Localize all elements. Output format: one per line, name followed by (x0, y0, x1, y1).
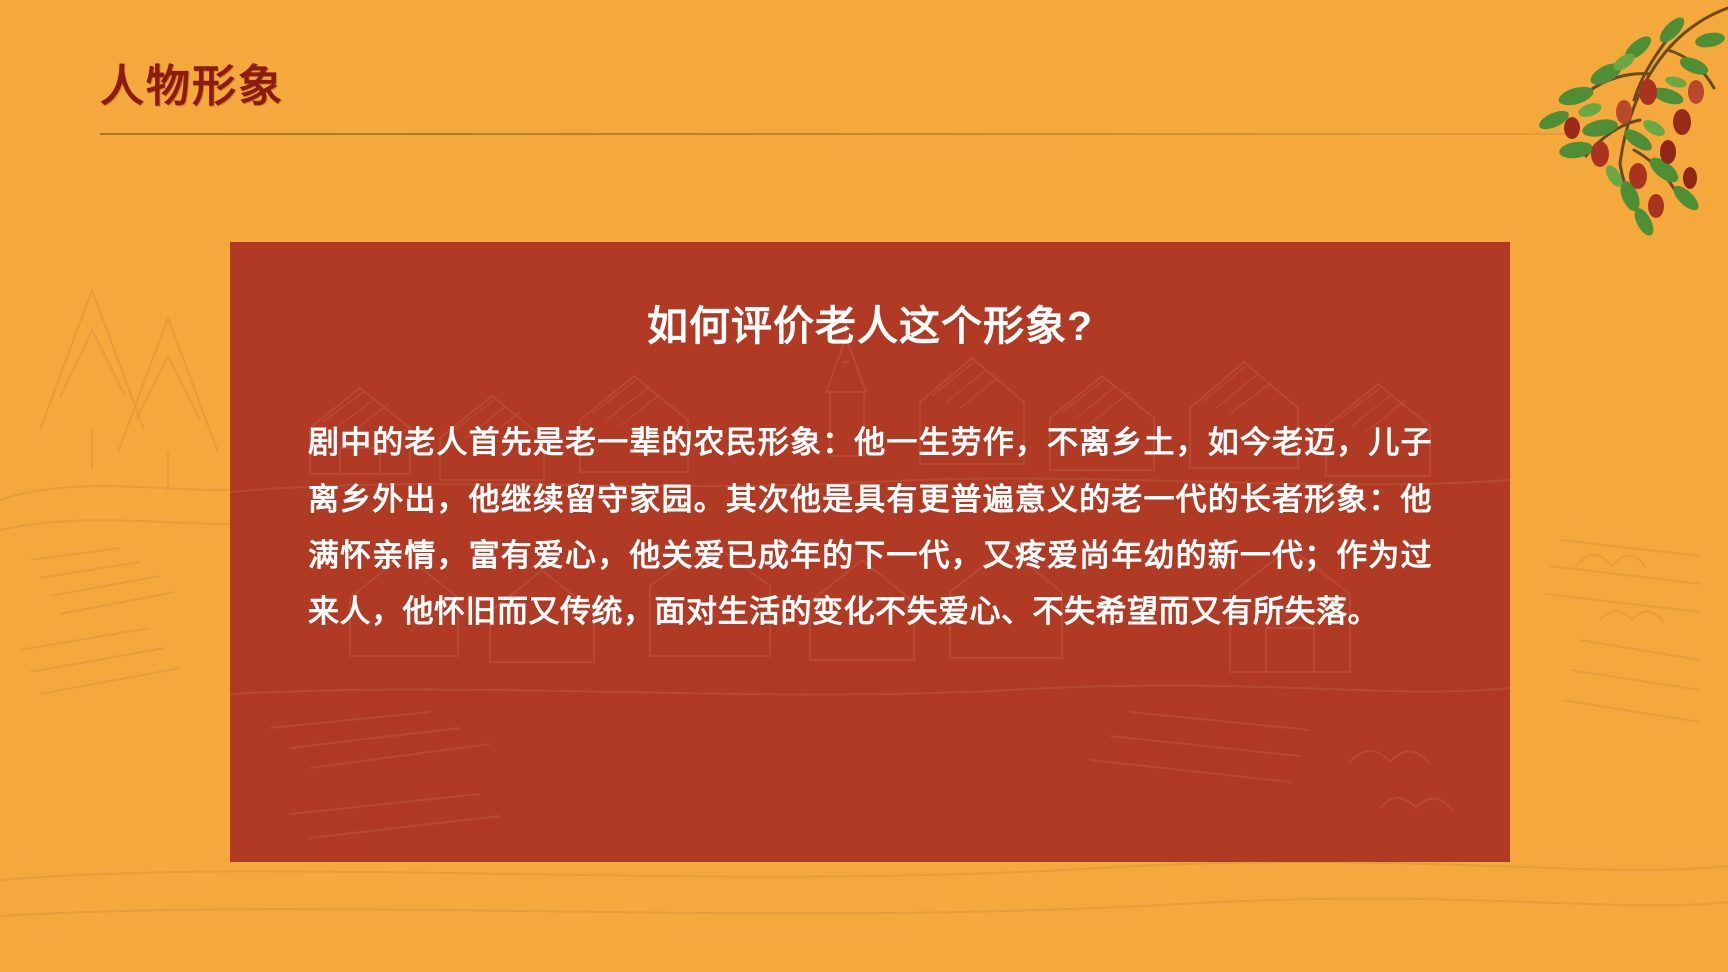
panel-body-text: 剧中的老人首先是老一辈的农民形象：他一生劳作，不离乡土，如今老迈，儿子离乡外出，… (308, 351, 1432, 641)
content-panel: 如何评价老人这个形象? 剧中的老人首先是老一辈的农民形象：他一生劳作，不离乡土，… (230, 242, 1510, 862)
jujube-branch-icon (1338, 0, 1728, 270)
slide-root: 人物形象 (0, 0, 1728, 972)
page-title-block: 人物形象 (100, 62, 1660, 113)
panel-heading: 如何评价老人这个形象? (308, 242, 1432, 351)
panel-content: 如何评价老人这个形象? 剧中的老人首先是老一辈的农民形象：他一生劳作，不离乡土，… (230, 242, 1510, 641)
title-divider (100, 133, 1574, 135)
page-title: 人物形象 (100, 62, 1660, 113)
